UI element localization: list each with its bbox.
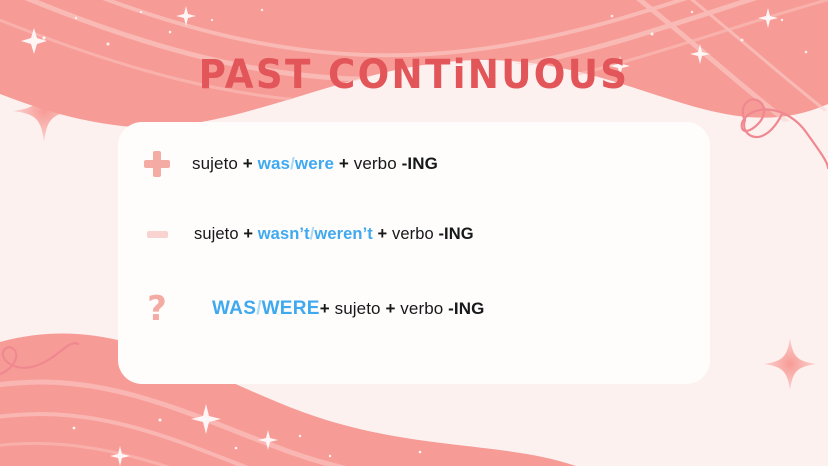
question-glyph: ?	[147, 292, 167, 326]
text-sujeto: sujeto	[335, 299, 386, 318]
text-was-caps: WAS	[212, 298, 256, 319]
text-sujeto: sujeto	[192, 154, 243, 173]
text-werent: weren’t	[314, 225, 372, 243]
text-plus-2: +	[334, 154, 354, 173]
slide-canvas: PAST CONTiNUOUS sujeto + was/were + verb…	[0, 0, 828, 466]
text-verbo: verbo	[400, 299, 448, 318]
text-were: were	[295, 154, 334, 173]
text-ing: -ING	[448, 299, 484, 318]
formula-row-affirmative: sujeto + was/were + verbo -ING	[136, 144, 438, 184]
formula-negative: sujeto + wasn’t/weren’t + verbo -ING	[194, 225, 474, 244]
text-ing: -ING	[402, 154, 438, 173]
minus-icon	[136, 231, 178, 238]
text-ing: -ING	[438, 225, 473, 243]
text-plus-2: +	[373, 225, 392, 243]
formula-row-interrogative: ? WAS/WERE+ sujeto + verbo -ING	[136, 289, 484, 329]
text-plus: +	[243, 154, 258, 173]
sparkle-star-right	[764, 338, 816, 390]
question-icon: ?	[136, 292, 178, 326]
text-plus-2: +	[385, 299, 400, 318]
formula-interrogative: WAS/WERE+ sujeto + verbo -ING	[212, 298, 484, 320]
text-wasnt: wasn’t	[258, 225, 310, 243]
text-verbo: verbo	[392, 225, 438, 243]
text-verbo: verbo	[354, 154, 402, 173]
content-card: sujeto + was/were + verbo -ING sujeto + …	[118, 122, 710, 384]
text-plus: +	[243, 225, 257, 243]
text-were-caps: WERE	[262, 298, 320, 319]
text-sujeto: sujeto	[194, 225, 243, 243]
formula-affirmative: sujeto + was/were + verbo -ING	[192, 154, 438, 174]
plus-icon	[136, 151, 178, 177]
curl-doodle	[0, 343, 78, 374]
formula-row-negative: sujeto + wasn’t/weren’t + verbo -ING	[136, 214, 474, 254]
page-title: PAST CONTiNUOUS	[29, 52, 799, 98]
text-was: was	[258, 154, 290, 173]
text-plus: +	[320, 299, 335, 318]
heart-doodle	[742, 99, 828, 168]
